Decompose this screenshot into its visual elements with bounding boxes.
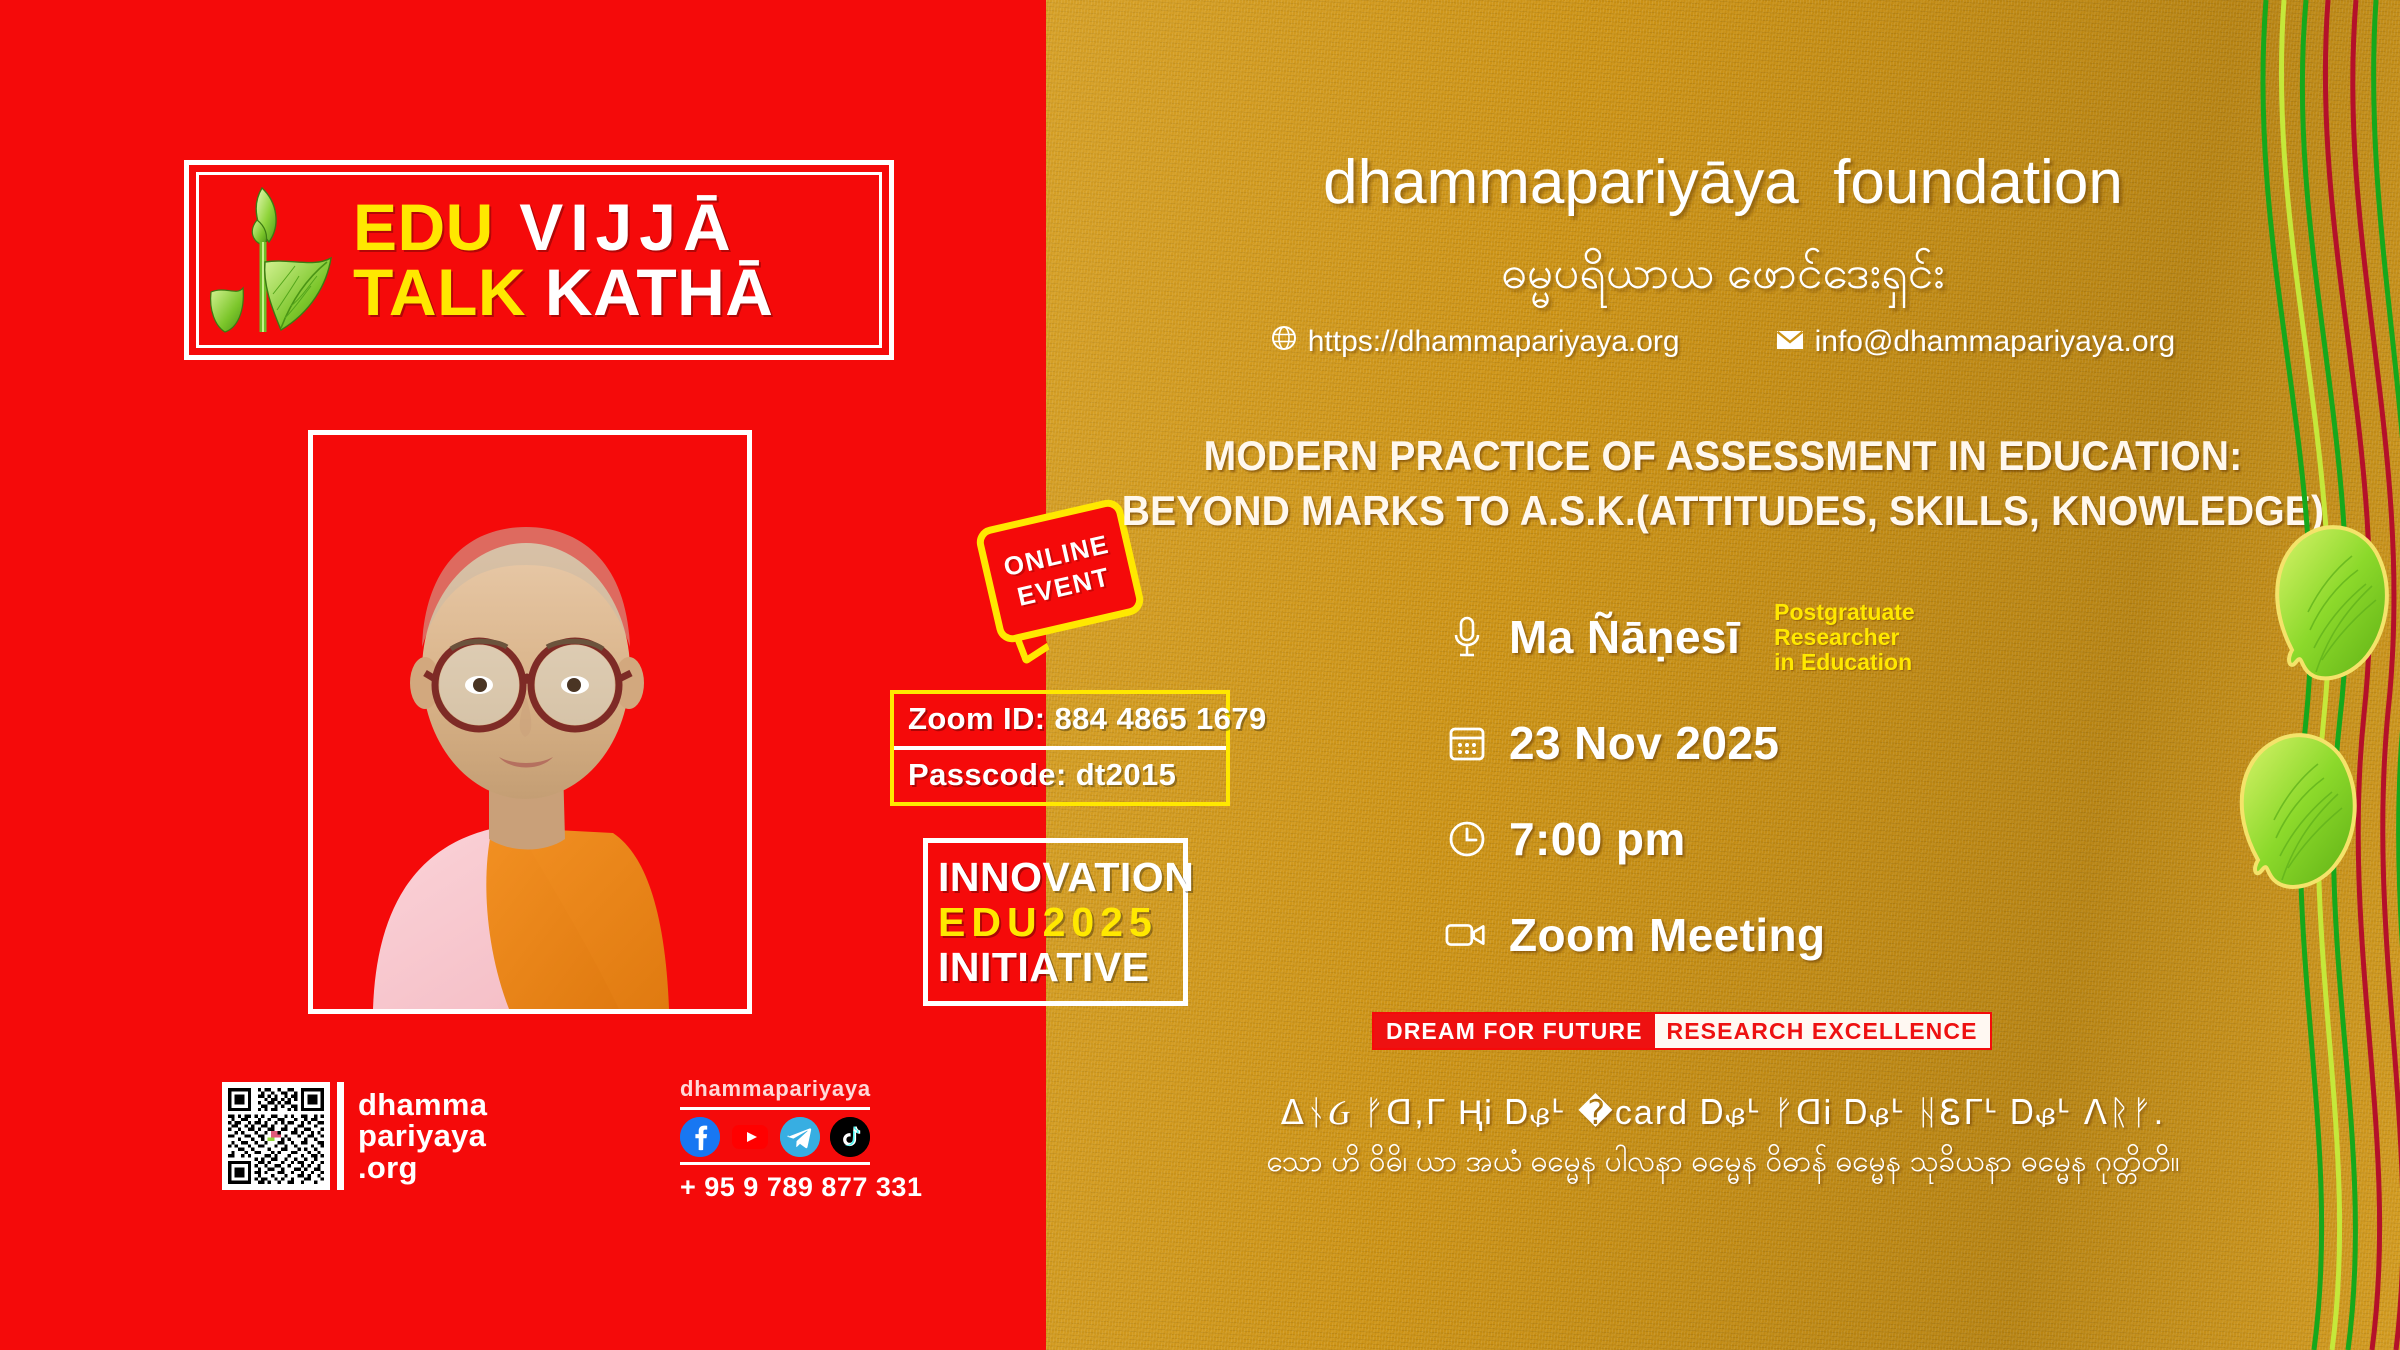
innovation-line-1: INNOVATION — [938, 856, 1173, 899]
organization-name-latin: dhammapariyāya — [1323, 148, 1799, 217]
eduvijja-talk-logo: EDU VIJJĀ TALK KATHĀ — [184, 160, 894, 360]
speaker-role-line-2: Researcher — [1774, 625, 1915, 650]
innovation-year: 2025 — [1043, 899, 1158, 945]
logo-talk: TALK — [353, 255, 526, 329]
social-divider-top — [680, 1107, 870, 1110]
detail-speaker: Ma Ñāṇesī Postgratuate Researcher in Edu… — [1445, 600, 2205, 674]
logo-wordmark: EDU VIJJĀ TALK KATHĀ — [349, 195, 873, 324]
logo-edu: EDU — [353, 190, 494, 264]
lotus-bud-with-leaves-icon — [199, 180, 349, 340]
innovation-edu: EDU — [938, 899, 1043, 945]
detail-time: 7:00 pm — [1445, 812, 2205, 866]
detail-platform: Zoom Meeting — [1445, 908, 2205, 962]
phone-number: + 95 9 789 877 331 — [680, 1172, 870, 1203]
speaker-role-line-1: Postgratuate — [1774, 600, 1915, 625]
qr-caption-line-1: dhamma — [358, 1089, 487, 1121]
organization-name-myanmar: ဓမ္မပရိယာယ ဖောင်ဒေးရှင်း — [1046, 245, 2400, 300]
event-time: 7:00 pm — [1509, 812, 1686, 866]
talk-title-line-1: MODERN PRACTICE OF ASSESSMENT IN EDUCATI… — [1093, 428, 2352, 483]
innovation-line-2: EDU2025 — [938, 899, 1173, 946]
innovation-line-3: INITIATIVE — [938, 946, 1173, 989]
email-item[interactable]: info@dhammapariyaya.org — [1776, 325, 2176, 359]
social-icon-row — [680, 1117, 870, 1157]
event-date: 23 Nov 2025 — [1509, 716, 1779, 770]
clock-icon — [1445, 817, 1489, 861]
contact-row: https://dhammapariyaya.org info@dhammapa… — [1046, 325, 2400, 359]
logo-katha: KATHĀ — [526, 255, 773, 329]
dream-banner: DREAM FOR FUTURE RESEARCH EXCELLENCE — [1372, 1012, 1992, 1050]
social-handle: dhammapariyaya — [680, 1076, 870, 1102]
qr-caption-line-2: pariyaya — [358, 1120, 487, 1152]
speaker-name: Ma Ñāṇesī — [1509, 610, 1740, 664]
event-flyer: EDU VIJJĀ TALK KATHĀ — [0, 0, 2400, 1350]
qr-caption: dhamma pariyaya .org — [358, 1089, 487, 1184]
organization-name: dhammapariyāya foundation — [1046, 150, 2400, 215]
globe-icon — [1271, 325, 1297, 359]
email-address: info@dhammapariyaya.org — [1815, 325, 2176, 359]
speaker-role-line-3: in Education — [1774, 650, 1915, 675]
speaker-portrait — [308, 430, 752, 1014]
tiktok-icon[interactable] — [830, 1117, 870, 1157]
event-platform: Zoom Meeting — [1509, 908, 1826, 962]
microphone-icon — [1445, 615, 1489, 659]
qr-caption-line-3: .org — [358, 1152, 487, 1184]
facebook-icon[interactable] — [680, 1117, 720, 1157]
logo-line-1: EDU VIJJĀ — [353, 195, 873, 260]
dream-banner-left: DREAM FOR FUTURE — [1374, 1014, 1655, 1048]
talk-title: MODERN PRACTICE OF ASSESSMENT IN EDUCATI… — [1093, 428, 2352, 539]
organization-name-suffix: foundation — [1833, 148, 2123, 217]
qr-block: dhamma pariyaya .org — [222, 1082, 487, 1190]
website-item[interactable]: https://dhammapariyaya.org — [1271, 325, 1680, 359]
social-divider-bottom — [680, 1162, 870, 1165]
footer-myanmar-line: သော ဟိ ဝိဓိ၊ ယာ အယံ ဓမ္မေန ပါလနာ ဓမ္မေန … — [1046, 1142, 2400, 1181]
envelope-icon — [1776, 325, 1804, 359]
logo-line-2: TALK KATHĀ — [353, 260, 873, 325]
event-details-list: Ma Ñāṇesī Postgratuate Researcher in Edu… — [1445, 600, 2205, 1004]
website-url: https://dhammapariyaya.org — [1308, 325, 1680, 359]
qr-divider-bar — [337, 1082, 344, 1190]
zoom-credentials-box: Zoom ID: 884 4865 1679 Passcode: dt2015 — [890, 690, 1230, 806]
dream-banner-right: RESEARCH EXCELLENCE — [1655, 1014, 1990, 1048]
video-camera-icon — [1445, 913, 1489, 957]
innovation-initiative-box: INNOVATION EDU2025 INITIATIVE — [923, 838, 1188, 1006]
speaker-role: Postgratuate Researcher in Education — [1774, 600, 1915, 674]
logo-vijja: VIJJĀ — [494, 190, 738, 264]
zoom-id-row: Zoom ID: 884 4865 1679 — [894, 694, 1226, 750]
youtube-icon[interactable] — [730, 1117, 770, 1157]
social-block: dhammapariyaya + 95 9 789 877 331 — [680, 1076, 870, 1203]
footer-pali-line: ᐃᚾᏵ ᚠᗡ,ᒥ ⱧᎥ Ꭰᏸᒻ �card Ꭰᏸᒻ ᚠᗡᎥ Ꭰᏸᒻ ᚺᏋᒥᒻ Ꭰ… — [1046, 1092, 2400, 1135]
detail-date: 23 Nov 2025 — [1445, 716, 2205, 770]
zoom-passcode-row: Passcode: dt2015 — [894, 750, 1226, 802]
telegram-icon[interactable] — [780, 1117, 820, 1157]
talk-title-line-2: BEYOND MARKS TO A.S.K.(ATTITUDES, SKILLS… — [1093, 483, 2352, 538]
calendar-icon — [1445, 721, 1489, 765]
qr-code-icon[interactable] — [222, 1082, 330, 1190]
